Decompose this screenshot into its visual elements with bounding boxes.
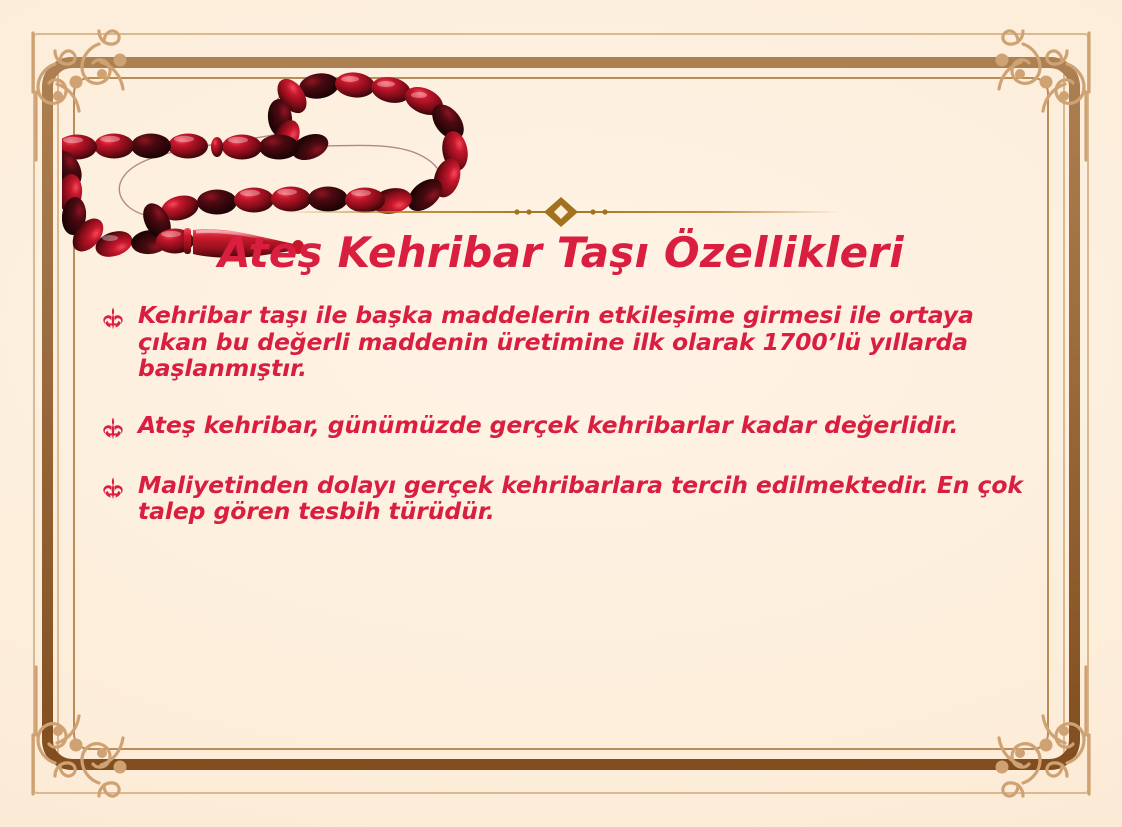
page-title: Ateş Kehribar Taşı Özellikleri	[0, 228, 1122, 277]
list-item: Kehribar taşı ile başka maddelerin etkil…	[100, 302, 1040, 382]
list-item-text: Kehribar taşı ile başka maddelerin etkil…	[138, 302, 1040, 382]
infographic-card: Ateş Kehribar Taşı Özellikleri Kehri	[0, 0, 1122, 827]
fleur-de-lis-icon	[100, 416, 126, 442]
list-item: Ateş kehribar, günümüzde gerçek kehribar…	[100, 412, 1040, 442]
list-item: Maliyetinden dolayı gerçek kehribarlara …	[100, 472, 1040, 525]
features-list: Kehribar taşı ile başka maddelerin etkil…	[100, 302, 1040, 555]
list-item-text: Ateş kehribar, günümüzde gerçek kehribar…	[138, 412, 1040, 439]
list-item-text: Maliyetinden dolayı gerçek kehribarlara …	[138, 472, 1040, 525]
fleur-de-lis-icon	[100, 476, 126, 502]
fleur-de-lis-icon	[100, 306, 126, 332]
